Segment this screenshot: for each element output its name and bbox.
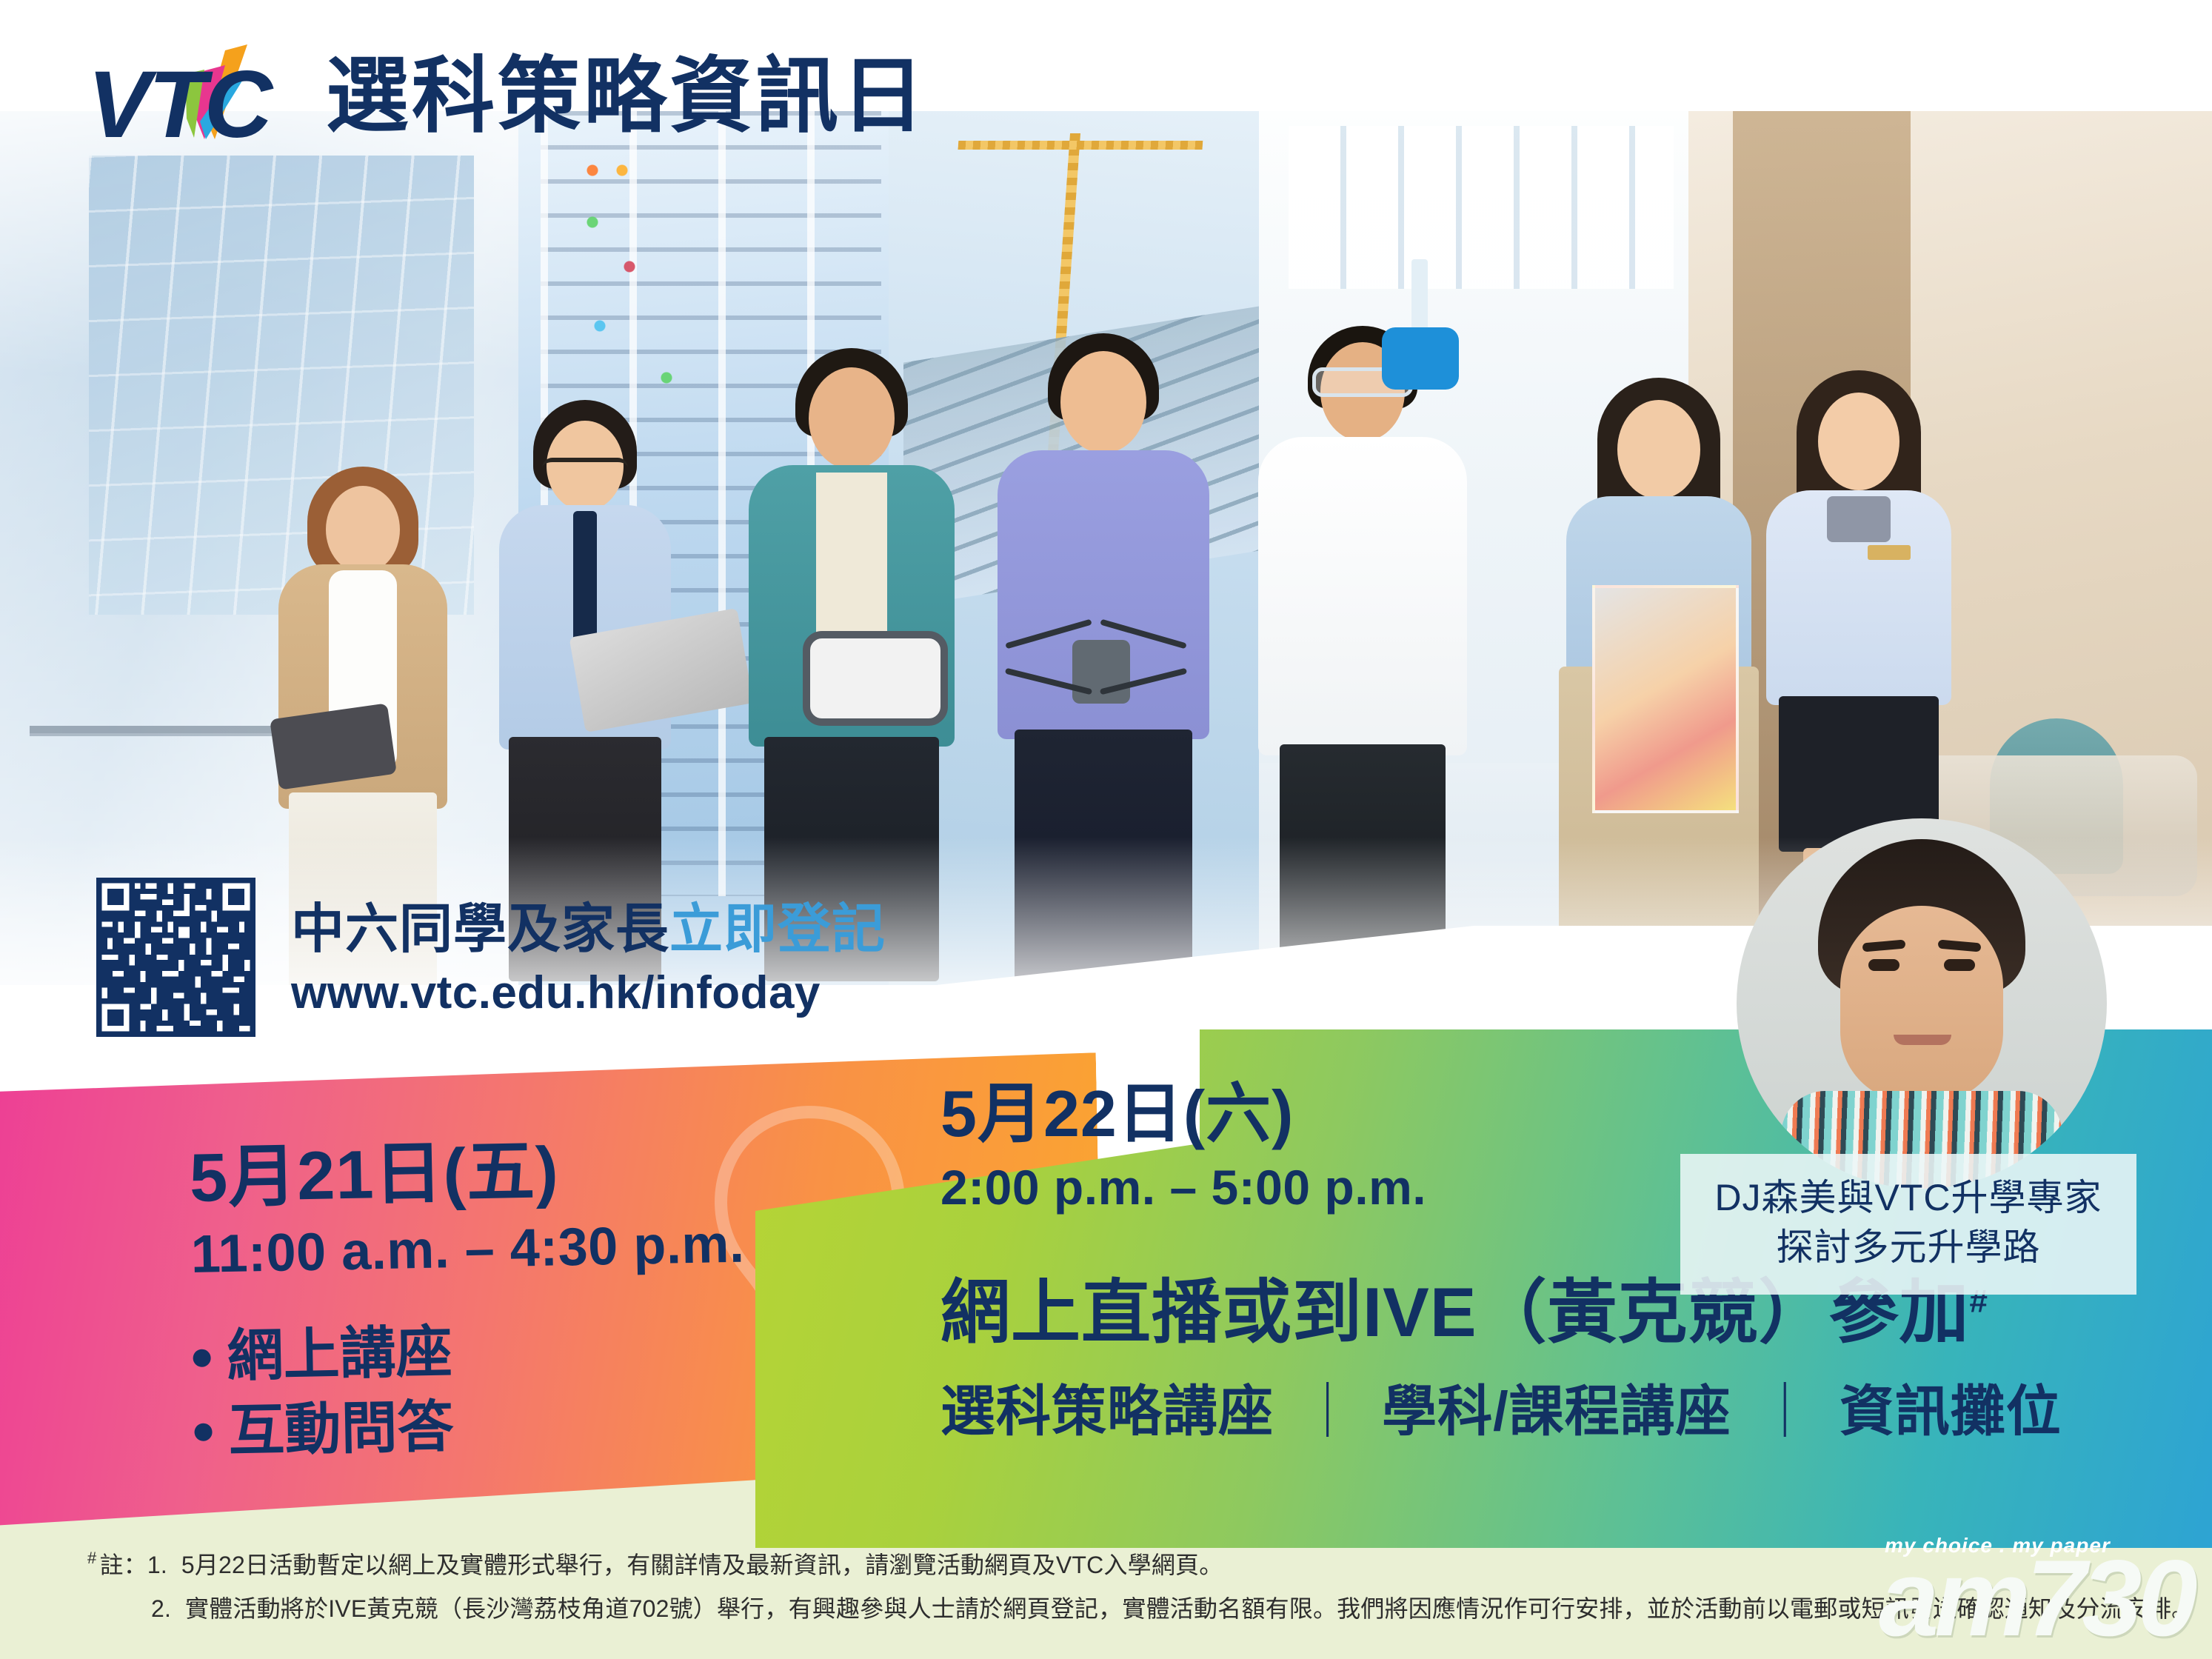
footnote-marker: #	[87, 1543, 96, 1587]
face	[809, 367, 895, 470]
activity-item: 選科策略講座	[940, 1381, 1274, 1442]
day-two-activities: 選科策略講座 ｜ 學科/課程講座 ｜ 資訊攤位	[940, 1379, 2062, 1445]
eye-left	[1868, 959, 1899, 971]
am730-logo: my choice . my paper am730	[1879, 1523, 2197, 1646]
am730-wordmark: am730	[1879, 1544, 2193, 1652]
activity-item: 學科/課程講座	[1382, 1381, 1731, 1442]
portfolio-icon	[1592, 585, 1739, 813]
list-item: 網上講座	[193, 1310, 747, 1395]
registration-text: 中六同學及家長立即登記 www.vtc.edu.hk/infoday	[291, 895, 886, 1020]
day-one-bullet-label: 網上講座	[227, 1316, 453, 1395]
footnote-label: 註：	[99, 1543, 147, 1587]
activity-item: 資訊攤位	[1840, 1381, 2062, 1442]
flask-icon	[1376, 259, 1465, 400]
face	[1617, 400, 1700, 499]
day-one-bullets: 網上講座 互動問答	[193, 1310, 749, 1469]
drone-icon	[1004, 615, 1189, 704]
dj-caption-line-2: 探討多元升學路	[1694, 1223, 2123, 1272]
bullet-dot-icon	[194, 1423, 212, 1441]
face	[1060, 351, 1146, 453]
registration-block: 中六同學及家長立即登記 www.vtc.edu.hk/infoday	[96, 878, 886, 1037]
day-one-time: 11:00 a.m. – 4:30 p.m.	[190, 1212, 745, 1287]
page-title: 選科策略資訊日	[326, 49, 927, 144]
dj-caption-box: DJ森美與VTC升學專家 探討多元升學路	[1680, 1154, 2136, 1295]
separator: ｜	[1747, 1381, 1823, 1442]
bullet-dot-icon	[193, 1349, 210, 1366]
eye-right	[1944, 959, 1975, 971]
qr-code-icon[interactable]	[96, 878, 255, 1037]
vtc-logo-letters: VTC	[87, 58, 270, 153]
vtc-logo: VTC	[87, 44, 347, 141]
vtc-infoday-poster: VTC 選科策略資訊日	[0, 0, 2212, 1659]
footnote-number: 2.	[151, 1587, 185, 1631]
footnote-text: 5月22日活動暫定以網上及實體形式舉行，有關詳情及最新資訊，請瀏覽活動網頁及VT…	[181, 1543, 1223, 1587]
face	[1818, 393, 1899, 490]
day-one-bullet-label: 互動問答	[228, 1390, 455, 1469]
register-now-link[interactable]: 立即登記	[669, 900, 886, 959]
dj-caption-line-1: DJ森美與VTC升學專家	[1694, 1173, 2123, 1223]
registration-prefix: 中六同學及家長	[291, 900, 669, 959]
footnote-number: 1.	[147, 1543, 181, 1587]
day-one-date: 5月21日(五)	[189, 1130, 744, 1217]
lab-coat	[1258, 437, 1467, 755]
separator: ｜	[1290, 1381, 1366, 1442]
mouth	[1894, 1035, 1951, 1045]
face	[1840, 906, 2003, 1102]
dj-portrait-photo	[1737, 818, 2107, 1189]
registration-url[interactable]: www.vtc.edu.hk/infoday	[291, 967, 886, 1019]
header: VTC 選科策略資訊日	[0, 0, 2212, 178]
list-item: 互動問答	[194, 1384, 749, 1469]
face	[326, 486, 400, 573]
day-one-content: 5月21日(五) 11:00 a.m. – 4:30 p.m. 網上講座 互動問…	[189, 1130, 749, 1469]
registration-headline: 中六同學及家長立即登記	[291, 900, 886, 960]
